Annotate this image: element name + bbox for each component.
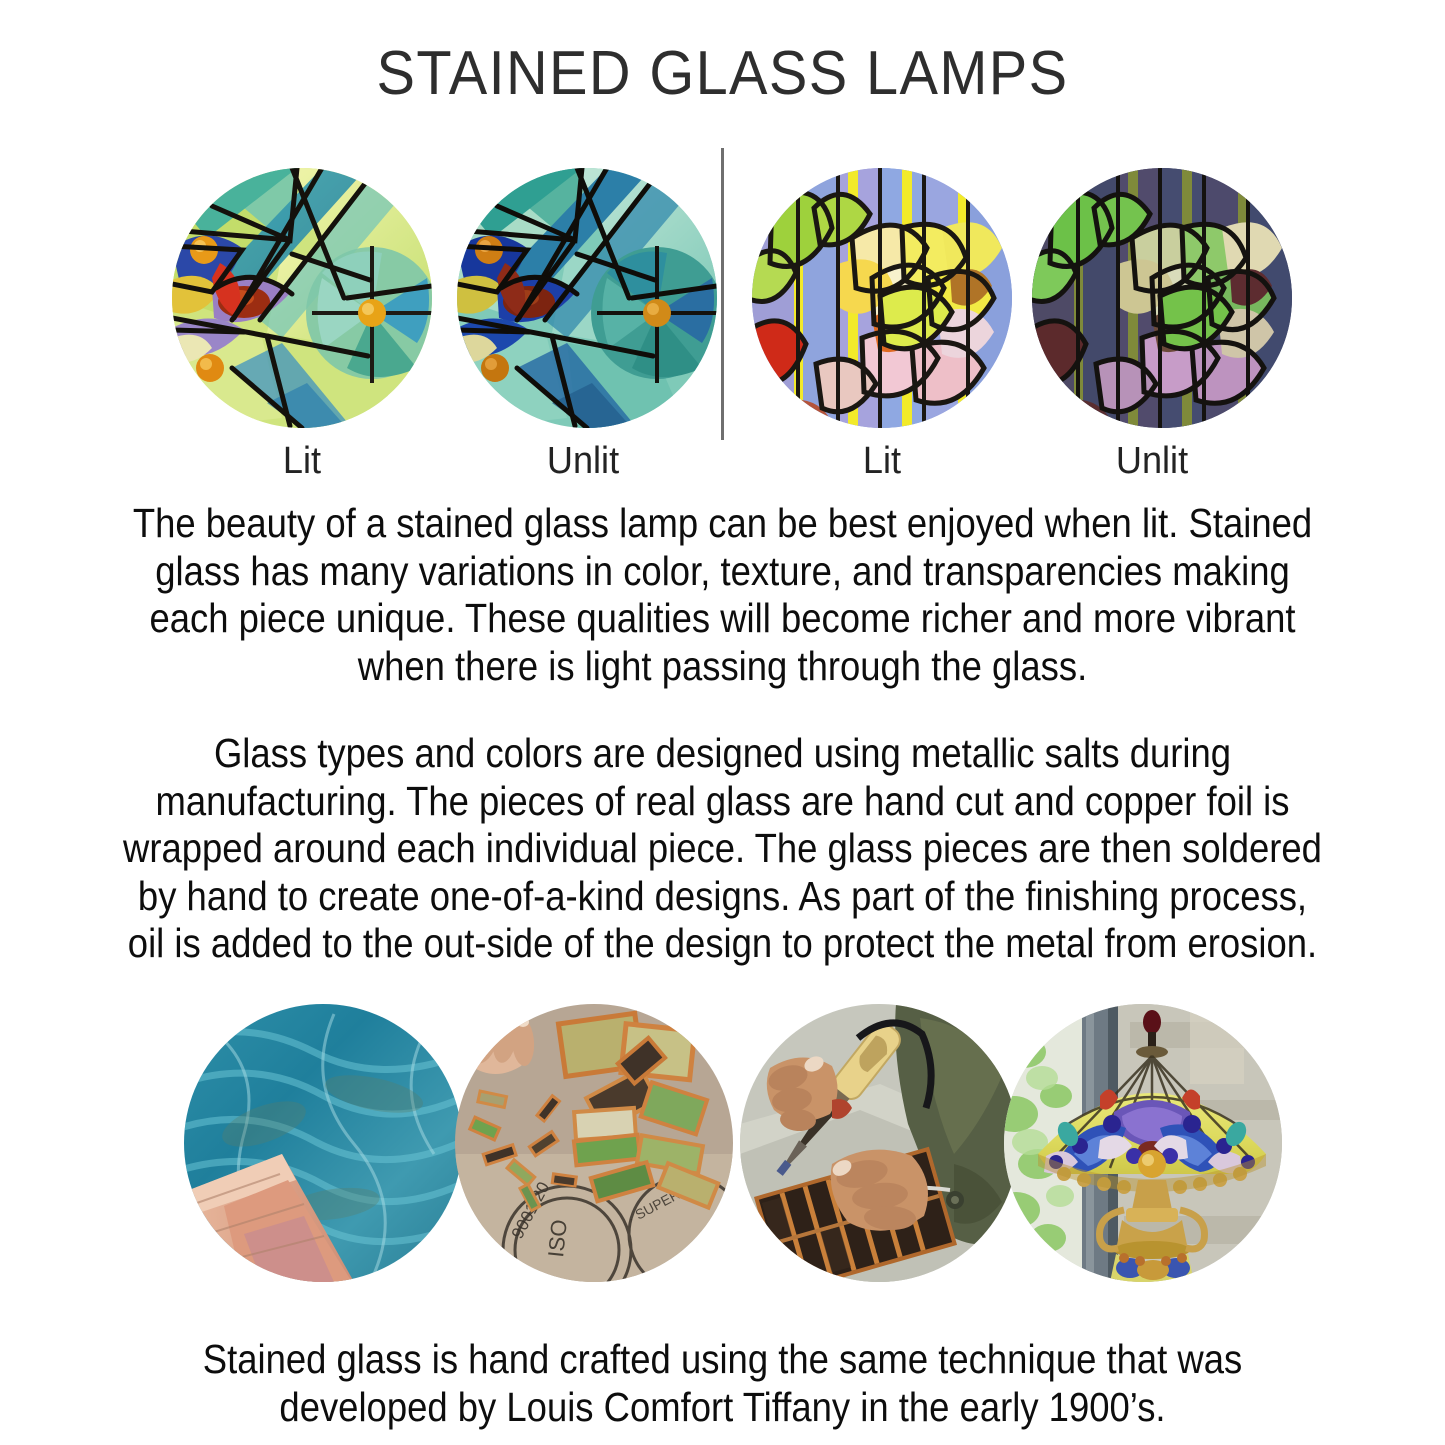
svg-text:ISO: ISO	[543, 1218, 572, 1258]
stained-glass-geometric-lit-icon	[172, 168, 432, 428]
infographic-page: STAINED GLASS LAMPS	[0, 0, 1445, 1445]
process-photo-row: 9001:20 ISO · SUPER QU	[0, 1004, 1445, 1284]
paragraph-beauty: The beauty of a stained glass lamp can b…	[119, 500, 1326, 690]
copper-foil-wrapping-photo: 9001:20 ISO · SUPER QU	[455, 1004, 733, 1282]
label-lit-geometric: Lit	[198, 440, 407, 483]
stained-glass-floral-lit-icon	[752, 168, 1012, 428]
state-labels-row: Lit Unlit Lit Unlit	[0, 440, 1445, 486]
finished-tiffany-lamp-photo	[1004, 1004, 1282, 1282]
label-lit-floral: Lit	[778, 440, 987, 483]
page-title: STAINED GLASS LAMPS	[51, 38, 1395, 109]
raw-glass-sheets-photo	[184, 1004, 462, 1282]
stained-glass-geometric-unlit-icon	[457, 168, 717, 428]
label-unlit-floral: Unlit	[1048, 440, 1257, 483]
stained-glass-floral-unlit-icon	[1032, 168, 1292, 428]
hand-soldering-photo	[740, 1004, 1018, 1282]
paragraph-heritage: Stained glass is hand crafted using the …	[119, 1336, 1326, 1431]
vertical-divider	[721, 148, 724, 440]
label-unlit-geometric: Unlit	[479, 440, 688, 483]
paragraph-process: Glass types and colors are designed usin…	[119, 730, 1326, 968]
